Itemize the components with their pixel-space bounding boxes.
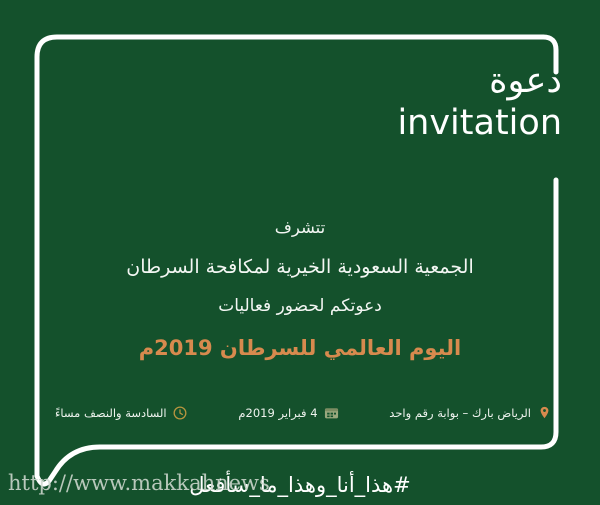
invitation-poster: دعوة invitation تتشرف الجمعية السعودية ا… [0,0,600,505]
detail-time-text: السادسة والنصف مساءً [55,406,167,420]
body-lead: تتشرف [0,218,600,239]
body-block: تتشرف الجمعية السعودية الخيرية لمكافحة ا… [0,218,600,361]
body-invite: دعوتكم لحضور فعاليات [0,296,600,317]
body-organization: الجمعية السعودية الخيرية لمكافحة السرطان [0,256,600,280]
title-english: invitation [142,103,562,143]
event-headline: اليوم العالمي للسرطان 2019م [0,335,600,361]
location-pin-icon [537,405,552,420]
title-arabic: دعوة [142,62,562,101]
title-block: دعوة invitation [142,62,562,143]
calendar-icon [324,405,339,420]
detail-location: الرياض بارك – بوابة رقم واحد [389,405,552,420]
detail-time: السادسة والنصف مساءً [55,405,188,420]
detail-date: 4 فبراير 2019م [238,405,338,420]
detail-date-text: 4 فبراير 2019م [238,406,317,420]
site-watermark: http://www.makkahnews [8,471,270,495]
detail-location-text: الرياض بارك – بوابة رقم واحد [389,406,531,420]
clock-icon [173,405,188,420]
event-details-row: الرياض بارك – بوابة رقم واحد 4 فبراير 20… [55,405,552,420]
